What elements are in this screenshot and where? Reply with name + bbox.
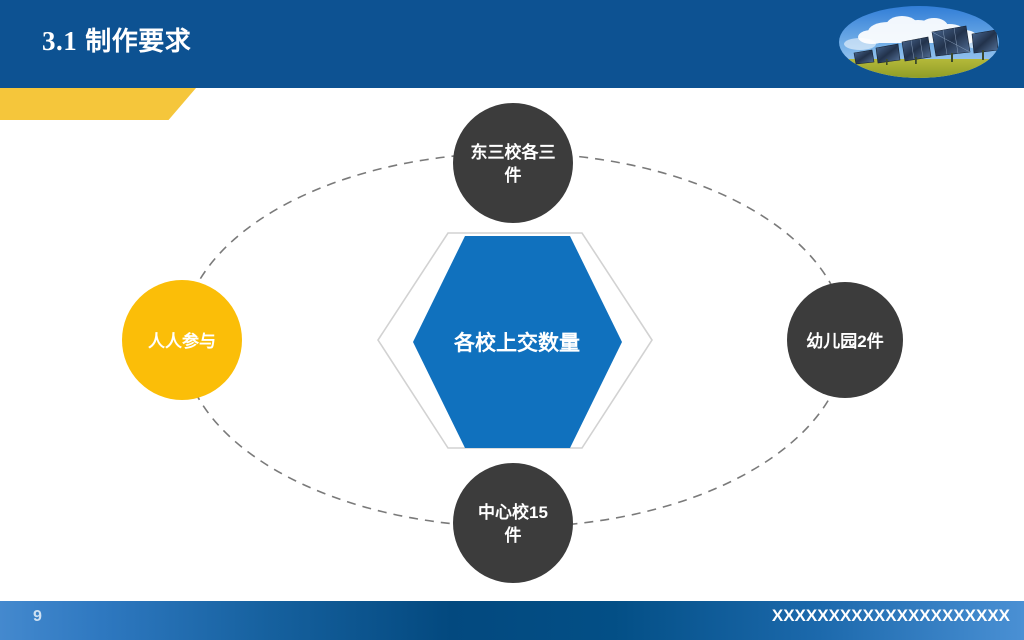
node-circle-bottom[interactable] <box>453 463 573 583</box>
node-label-right: 幼儿园2件 <box>806 331 883 351</box>
page-title: 3.1制作要求 <box>42 28 191 55</box>
section-title: 制作要求 <box>85 26 191 56</box>
node-label-bottom: 中心校15 <box>478 502 548 522</box>
node-circle-top[interactable] <box>453 103 573 223</box>
node-label-top-line2: 件 <box>505 165 522 185</box>
section-number: 3.1 <box>42 26 77 56</box>
page-number: 9 <box>33 609 42 625</box>
center-hexagon-label: 各校上交数量 <box>453 331 580 355</box>
diagram-svg: 各校上交数量 东三校各三 件 幼儿园2件 中心校15 件 人人参与 <box>0 88 1024 600</box>
node-label-left: 人人参与 <box>148 331 216 351</box>
node-label-top: 东三校各三 <box>471 142 556 162</box>
footer-text: XXXXXXXXXXXXXXXXXXXXX <box>772 607 1010 624</box>
solar-panel-photo <box>836 4 1002 80</box>
node-label-bottom-line2: 件 <box>505 525 522 545</box>
slide-canvas: 3.1制作要求 <box>0 0 1024 640</box>
radial-diagram: 各校上交数量 东三校各三 件 幼儿园2件 中心校15 件 人人参与 <box>0 88 1024 600</box>
